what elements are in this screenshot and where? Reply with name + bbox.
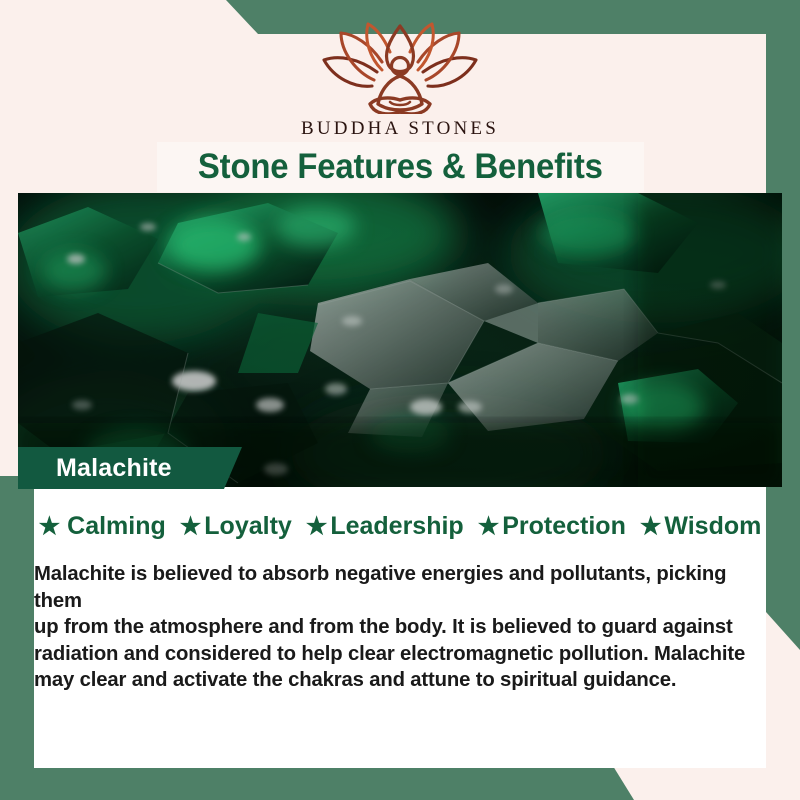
benefits-row: ★ Calming ★ Loyalty ★ Leadership ★ Prote… (34, 512, 766, 541)
stone-description: Malachite is believed to absorb negative… (34, 561, 769, 694)
star-icon: ★ (306, 515, 328, 539)
benefit-item-loyalty: ★ Loyalty (180, 512, 292, 541)
page-title-band: Stone Features & Benefits (157, 142, 644, 192)
benefit-item-protection: ★ Protection (478, 512, 626, 541)
description-line-2: up from the atmosphere and from the body… (34, 614, 769, 641)
benefit-label: Protection (502, 512, 626, 541)
description-line-1: Malachite is believed to absorb negative… (34, 561, 769, 614)
star-icon: ★ (478, 515, 500, 539)
benefit-label: Leadership (330, 512, 463, 541)
lotus-meditation-icon (314, 22, 486, 114)
brand-logo: BUDDHA STONES (0, 22, 800, 140)
description-line-4: may clear and activate the chakras and a… (34, 667, 769, 694)
stone-info-card: BUDDHA STONES Stone Features & Benefits (0, 0, 800, 800)
benefit-label: Loyalty (204, 512, 292, 541)
stone-name: Malachite (56, 454, 172, 483)
benefit-item-wisdom: ★ Wisdom (640, 512, 762, 541)
star-icon: ★ (180, 515, 202, 539)
benefit-label: Calming (67, 512, 166, 541)
stone-name-banner: Malachite (18, 447, 242, 489)
benefit-item-leadership: ★ Leadership (306, 512, 464, 541)
benefit-label: Wisdom (664, 512, 761, 541)
brand-name: BUDDHA STONES (0, 118, 800, 140)
description-line-3: radiation and considered to help clear e… (34, 641, 769, 668)
malachite-stone-photo (18, 193, 782, 487)
frame-edge-left (0, 476, 34, 776)
page-title: Stone Features & Benefits (198, 147, 603, 187)
star-icon: ★ (640, 515, 662, 539)
star-icon: ★ (39, 515, 61, 539)
benefit-item-calming: ★ Calming (39, 512, 166, 541)
